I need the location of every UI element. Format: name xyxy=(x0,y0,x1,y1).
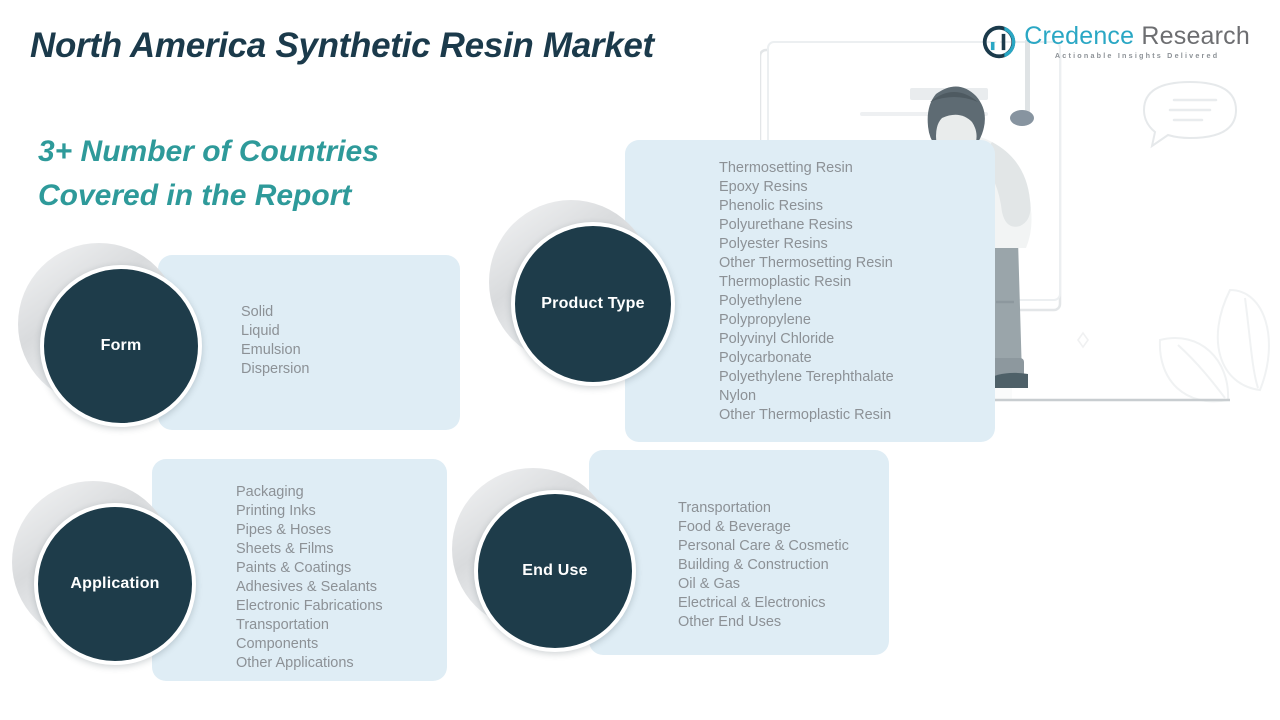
speech-bubble-icon xyxy=(1144,82,1236,146)
logo-word-research: Research xyxy=(1141,22,1250,50)
list-item: Sheets & Films xyxy=(236,540,383,559)
list-item: Printing Inks xyxy=(236,502,383,521)
list-item: Polyethylene Terephthalate xyxy=(719,368,894,387)
bar-chart-circle-logo-icon xyxy=(981,24,1017,60)
form-circle[interactable]: Form xyxy=(40,265,202,427)
list-item: Personal Care & Cosmetic xyxy=(678,537,849,556)
page-subtitle: 3+ Number of Countries Covered in the Re… xyxy=(38,130,379,217)
list-item: Other Applications xyxy=(236,654,383,673)
list-item: Electronic Fabrications xyxy=(236,597,383,616)
end-use-item-list: Transportation Food & Beverage Personal … xyxy=(678,499,849,632)
list-item: Components xyxy=(236,635,383,654)
list-item: Other End Uses xyxy=(678,613,849,632)
product-type-circle[interactable]: Product Type xyxy=(511,222,675,386)
list-item: Emulsion xyxy=(241,341,310,360)
logo-word-credence: Credence xyxy=(1024,22,1134,50)
list-item: Food & Beverage xyxy=(678,518,849,537)
subtitle-line-2: Covered in the Report xyxy=(38,174,379,218)
application-circle-wrap: Application xyxy=(34,503,196,665)
product-type-item-list: Thermosetting Resin Epoxy Resins Phenoli… xyxy=(719,159,894,425)
list-item: Polypropylene xyxy=(719,311,894,330)
logo-tagline: Actionable Insights Delivered xyxy=(1024,52,1250,59)
form-circle-label: Form xyxy=(101,337,142,355)
list-item: Thermoplastic Resin xyxy=(719,273,894,292)
list-item: Paints & Coatings xyxy=(236,559,383,578)
list-item: Packaging xyxy=(236,483,383,502)
list-item: Solid xyxy=(241,303,310,322)
list-item: Polyethylene xyxy=(719,292,894,311)
product-type-circle-label: Product Type xyxy=(541,295,644,313)
end-use-circle-wrap: End Use xyxy=(474,490,636,652)
logo-text: Credence Research Actionable Insights De… xyxy=(1024,24,1250,59)
list-item: Other Thermoplastic Resin xyxy=(719,406,894,425)
end-use-circle-label: End Use xyxy=(522,562,587,580)
list-item: Transportation xyxy=(236,616,383,635)
list-item: Oil & Gas xyxy=(678,575,849,594)
application-item-list: Packaging Printing Inks Pipes & Hoses Sh… xyxy=(236,483,383,673)
product-type-circle-wrap: Product Type xyxy=(511,222,675,386)
list-item: Phenolic Resins xyxy=(719,197,894,216)
speech-bubble-lines xyxy=(1170,100,1216,120)
list-item: Dispersion xyxy=(241,360,310,379)
list-item: Other Thermosetting Resin xyxy=(719,254,894,273)
list-item: Building & Construction xyxy=(678,556,849,575)
list-item: Polyvinyl Chloride xyxy=(719,330,894,349)
list-item: Epoxy Resins xyxy=(719,178,894,197)
clamp xyxy=(1010,110,1034,126)
leaf-decoration-icon xyxy=(1160,290,1269,401)
list-item: Polycarbonate xyxy=(719,349,894,368)
list-item: Thermosetting Resin xyxy=(719,159,894,178)
application-circle-label: Application xyxy=(70,575,159,593)
list-item: Polyurethane Resins xyxy=(719,216,894,235)
logo-wordmark: Credence Research xyxy=(1024,24,1250,49)
list-item: Adhesives & Sealants xyxy=(236,578,383,597)
infographic-page: North America Synthetic Resin Market 3+ … xyxy=(0,0,1280,720)
board-title-bar xyxy=(910,88,988,100)
list-item: Electrical & Electronics xyxy=(678,594,849,613)
subtitle-line-1: 3+ Number of Countries xyxy=(38,130,379,174)
end-use-circle[interactable]: End Use xyxy=(474,490,636,652)
application-circle[interactable]: Application xyxy=(34,503,196,665)
list-item: Transportation xyxy=(678,499,849,518)
list-item: Nylon xyxy=(719,387,894,406)
form-circle-wrap: Form xyxy=(40,265,202,427)
brand-logo[interactable]: Credence Research Actionable Insights De… xyxy=(981,24,1250,60)
list-item: Liquid xyxy=(241,322,310,341)
list-item: Polyester Resins xyxy=(719,235,894,254)
list-item: Pipes & Hoses xyxy=(236,521,383,540)
page-title: North America Synthetic Resin Market xyxy=(30,26,654,66)
form-item-list: Solid Liquid Emulsion Dispersion xyxy=(241,303,310,379)
